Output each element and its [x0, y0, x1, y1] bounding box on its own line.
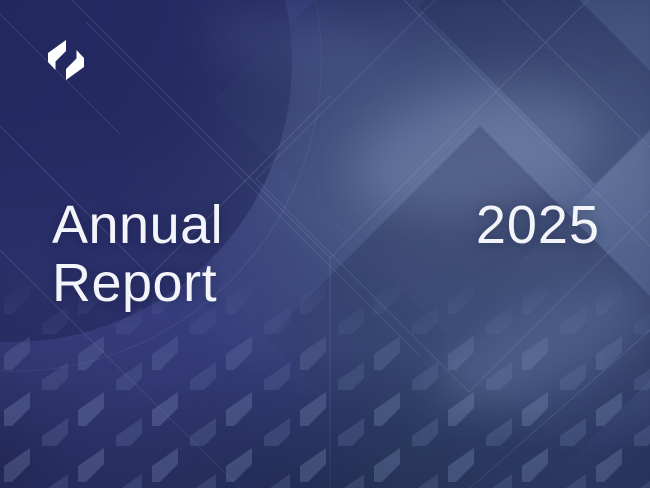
page-title: Annual Report — [52, 196, 223, 312]
brand-logo[interactable] — [48, 40, 84, 80]
cover-title-block: Annual Report 2025 — [52, 196, 612, 312]
title-line-1: Annual — [52, 196, 223, 254]
diamond-split-logo-icon — [48, 40, 84, 80]
annual-report-cover: Annual Report 2025 — [0, 0, 650, 488]
title-line-2: Report — [52, 254, 223, 312]
report-year: 2025 — [476, 196, 612, 254]
